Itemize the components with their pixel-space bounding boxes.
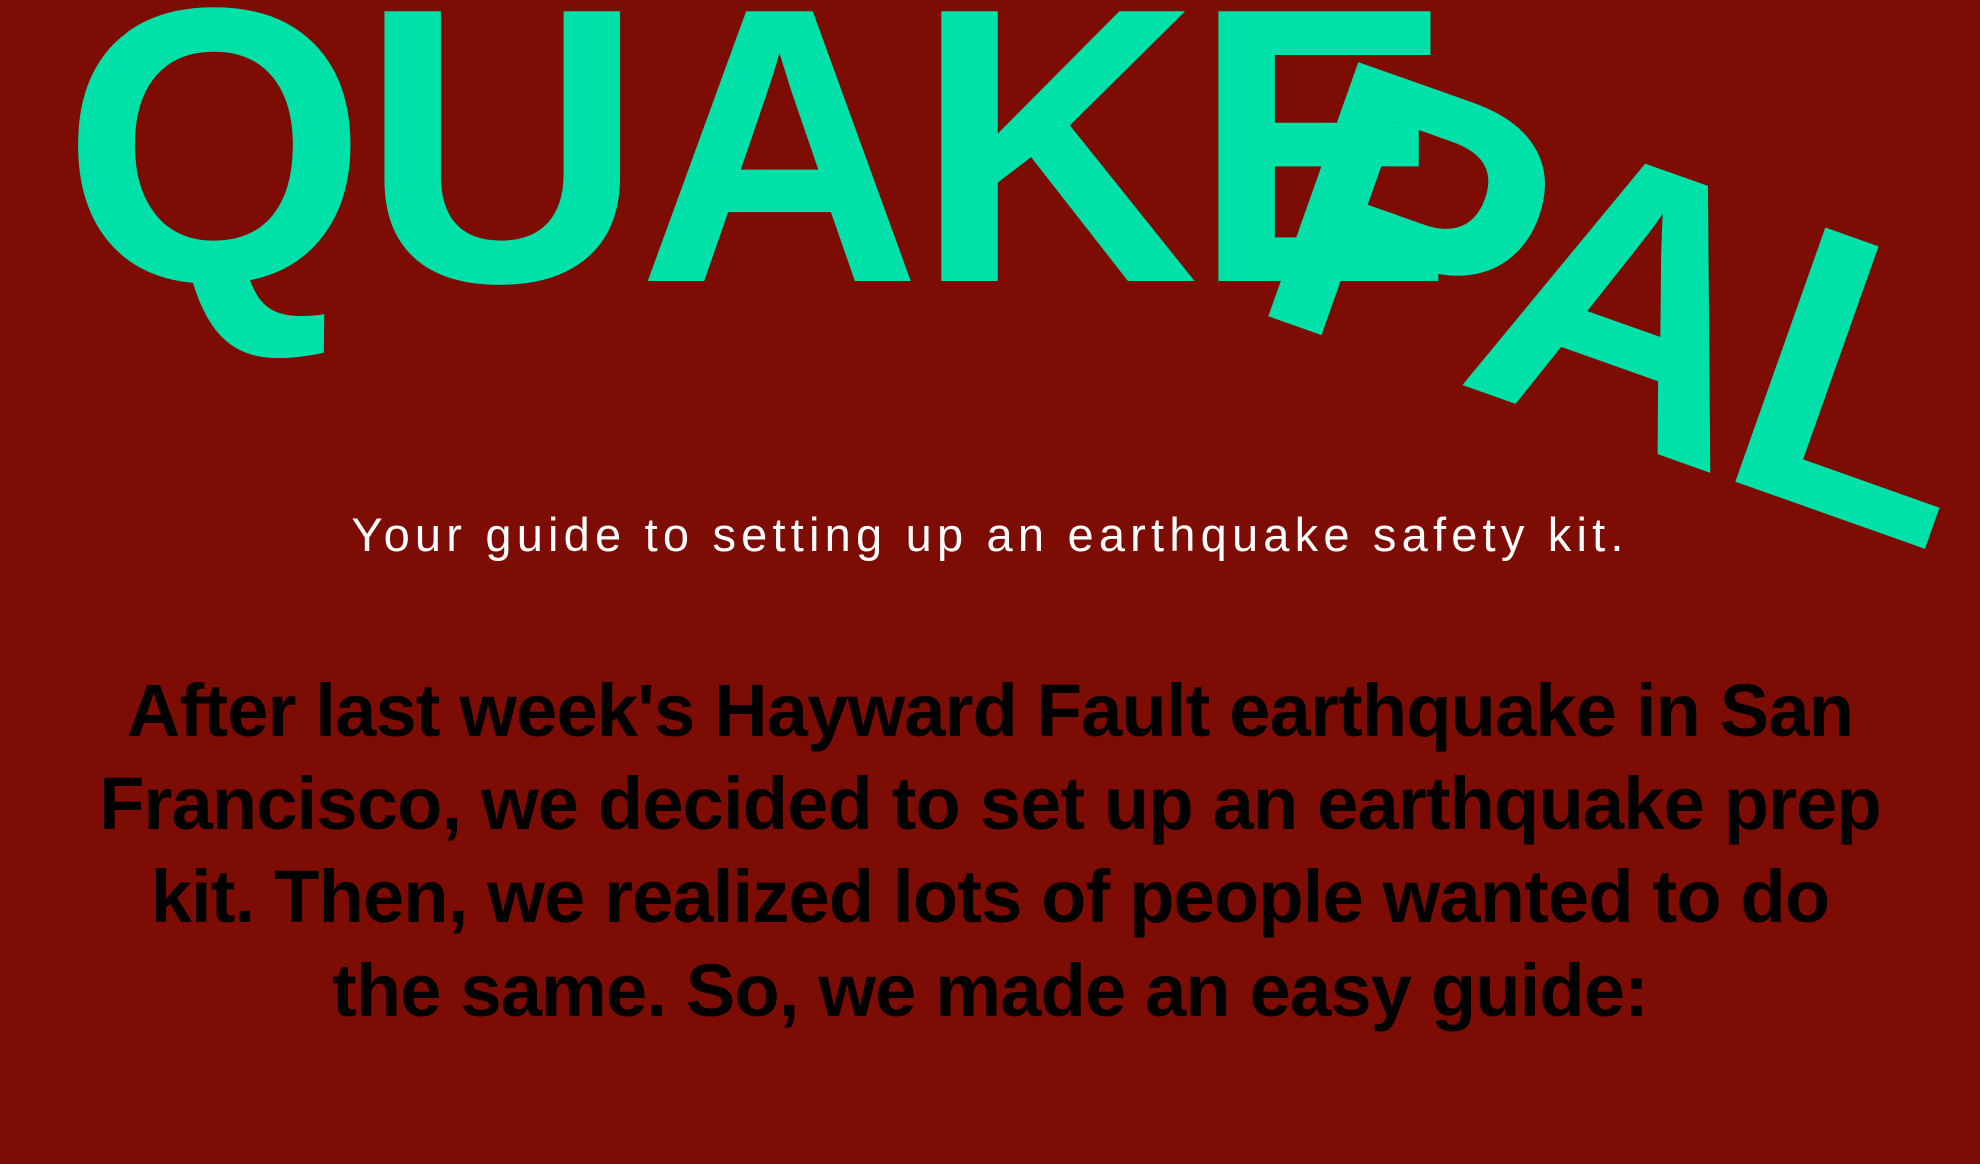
- landing-page: QUAKE PAL Your guide to setting up an ea…: [0, 0, 1980, 1164]
- logo-text-quake: QUAKE: [62, 0, 1448, 342]
- brand-logo[interactable]: QUAKE PAL: [0, 0, 1980, 500]
- page-subtitle: Your guide to setting up an earthquake s…: [0, 505, 1980, 565]
- intro-paragraph: After last week's Hayward Fault earthqua…: [90, 664, 1890, 1037]
